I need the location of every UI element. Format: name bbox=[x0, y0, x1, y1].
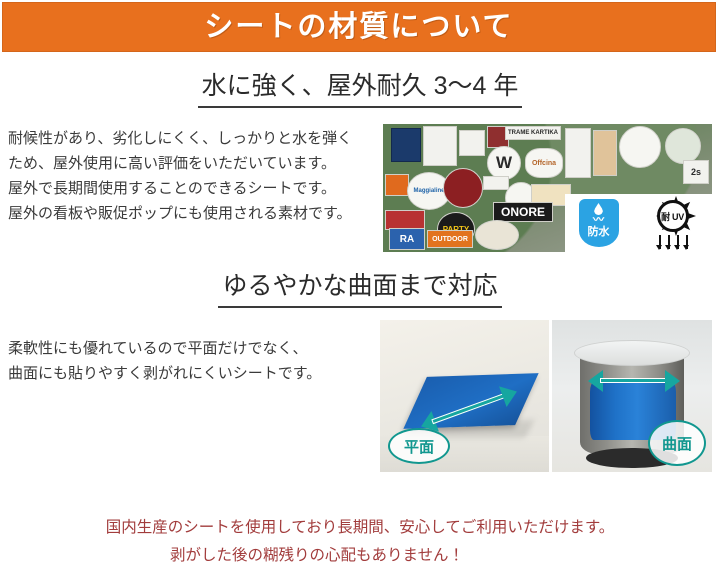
body-copy-curved-surface: 柔軟性にも優れているので平面だけでなく、 曲面にも貼りやすく剥がれにくいシートで… bbox=[8, 336, 321, 386]
sticker-shape bbox=[475, 220, 519, 250]
bottom-note: 国内生産のシートを使用しており長期間、安心してご利用いただけます。 剥がした後の… bbox=[0, 514, 720, 570]
page-header-banner: シートの材質について bbox=[2, 2, 716, 52]
sticker-shape bbox=[665, 128, 701, 164]
sticker-shape bbox=[423, 126, 457, 166]
sun-downray-icon bbox=[677, 235, 679, 249]
feature-icon-panel: 〰 防水 耐 UV bbox=[565, 194, 712, 252]
section-heading-curved-surface-text: ゆるやかな曲面まで対応 bbox=[218, 266, 501, 308]
bottom-note-line: 剥がした後の糊残りの心配もありません！ bbox=[0, 542, 720, 570]
uv-resistant-icon: 耐 UV bbox=[646, 197, 700, 249]
outdoor-stickers-photo: TRAME KARTIKA W Offcina 2s Maggialine ON… bbox=[383, 124, 712, 252]
body-copy-water-resistance: 耐候性があり、劣化しにくく、しっかりと水を弾く ため、屋外使用に高い評価をいただ… bbox=[8, 126, 352, 226]
body-line: 曲面にも貼りやすく剥がれにくいシートです。 bbox=[8, 361, 321, 386]
body-line: 耐候性があり、劣化しにくく、しっかりと水を弾く bbox=[8, 126, 352, 151]
sticker-shape bbox=[483, 176, 509, 190]
sticker-shape bbox=[593, 130, 617, 176]
cylinder-lid bbox=[574, 340, 690, 366]
sticker-shape bbox=[391, 128, 421, 162]
curve-dimension-arrow bbox=[588, 370, 680, 392]
sun-downray-icon bbox=[659, 235, 661, 249]
sticker-shape bbox=[385, 210, 425, 230]
sticker-shape bbox=[443, 168, 483, 208]
body-line: ため、屋外使用に高い評価をいただいています。 bbox=[8, 151, 352, 176]
sticker-label-ra: RA bbox=[389, 228, 425, 250]
page-title: シートの材質について bbox=[204, 13, 513, 42]
badge-curved-surface: 曲面 bbox=[648, 420, 706, 466]
sticker-label-w: W bbox=[487, 146, 521, 180]
body-line: 屋外の看板や販促ポップにも使用される素材です。 bbox=[8, 201, 352, 226]
flat-surface-photo: 平面 bbox=[380, 320, 549, 472]
sticker-label-offcina: Offcina bbox=[525, 148, 563, 178]
sticker-shape bbox=[385, 174, 409, 196]
sticker-shape bbox=[565, 128, 591, 178]
curved-surface-photo: 曲面 bbox=[552, 320, 712, 472]
body-line: 屋外で長期間使用することのできるシートです。 bbox=[8, 176, 352, 201]
water-drop-icon bbox=[594, 203, 603, 215]
sticker-label-2s: 2s bbox=[683, 160, 709, 184]
sticker-label-trame: TRAME KARTIKA bbox=[505, 126, 561, 140]
sticker-label-onore: ONORE bbox=[493, 202, 553, 222]
body-line: 柔軟性にも優れているので平面だけでなく、 bbox=[8, 336, 321, 361]
arrow-head-right-icon bbox=[665, 370, 680, 392]
section-heading-curved-surface: ゆるやかな曲面まで対応 bbox=[0, 266, 720, 308]
waterproof-icon: 〰 防水 bbox=[579, 199, 619, 247]
sun-downray-icon bbox=[668, 235, 670, 249]
sticker-label-outdoor: OUTDOOR bbox=[427, 230, 473, 248]
section-heading-water-resistance-text: 水に強く、屋外耐久 3〜4 年 bbox=[198, 66, 523, 108]
waterproof-label: 防水 bbox=[588, 226, 610, 238]
uv-label: 耐 UV bbox=[657, 200, 689, 232]
water-waves-icon: 〰 bbox=[593, 216, 604, 225]
sticker-shape bbox=[459, 130, 485, 156]
sticker-shape bbox=[619, 126, 661, 168]
section-heading-water-resistance: 水に強く、屋外耐久 3〜4 年 bbox=[0, 66, 720, 108]
arrow-shaft bbox=[600, 378, 668, 383]
badge-flat-surface: 平面 bbox=[388, 428, 450, 464]
bottom-note-line: 国内生産のシートを使用しており長期間、安心してご利用いただけます。 bbox=[0, 514, 720, 542]
sun-downray-icon bbox=[686, 235, 688, 249]
